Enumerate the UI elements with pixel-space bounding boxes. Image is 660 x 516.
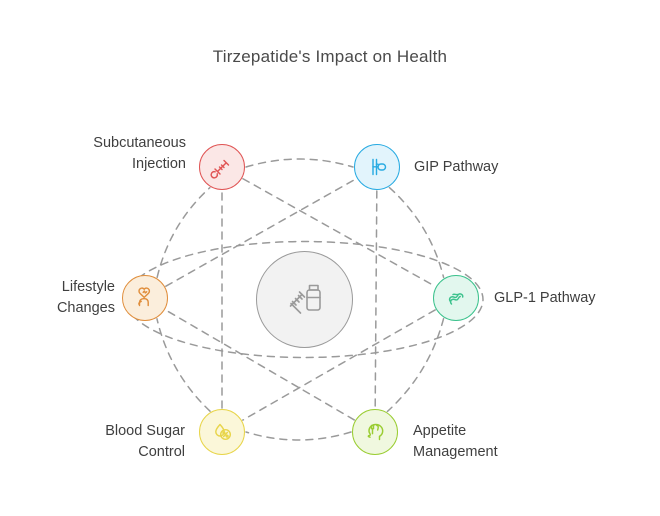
node-gip-pathway[interactable]	[354, 144, 400, 190]
receptor-molecule-icon	[364, 154, 391, 181]
node-subcutaneous-injection[interactable]	[199, 144, 245, 190]
syringe-vial-icon	[278, 273, 332, 327]
heart-muscle-icon	[132, 285, 159, 312]
center-node-tirzepatide[interactable]	[256, 251, 353, 348]
connector-path	[246, 432, 351, 440]
connector-path	[157, 319, 210, 411]
connector-path	[389, 188, 443, 278]
node-appetite-management[interactable]	[352, 409, 398, 455]
connector-path	[246, 159, 353, 167]
diagram-canvas: Tirzepatide's Impact on Health Subcutane…	[0, 0, 660, 516]
node-glp-1-pathway[interactable]	[433, 275, 479, 321]
peptide-chain-icon	[443, 285, 470, 312]
blood-drop-percent-icon	[209, 419, 236, 446]
connector-path	[375, 191, 377, 408]
node-label-gip-pathway: GIP Pathway	[414, 157, 594, 178]
node-blood-sugar-control[interactable]	[199, 409, 245, 455]
node-label-lifestyle-changes: Lifestyle Changes	[10, 277, 115, 319]
head-cutlery-icon	[362, 419, 389, 446]
node-label-appetite-management: Appetite Management	[413, 421, 603, 463]
node-lifestyle-changes[interactable]	[122, 275, 168, 321]
node-label-blood-sugar-control: Blood Sugar Control	[40, 421, 185, 463]
node-label-glp-1-pathway: GLP-1 Pathway	[494, 288, 660, 309]
syringe-icon	[209, 154, 236, 181]
node-label-subcutaneous-injection: Subcutaneous Injection	[36, 133, 186, 175]
